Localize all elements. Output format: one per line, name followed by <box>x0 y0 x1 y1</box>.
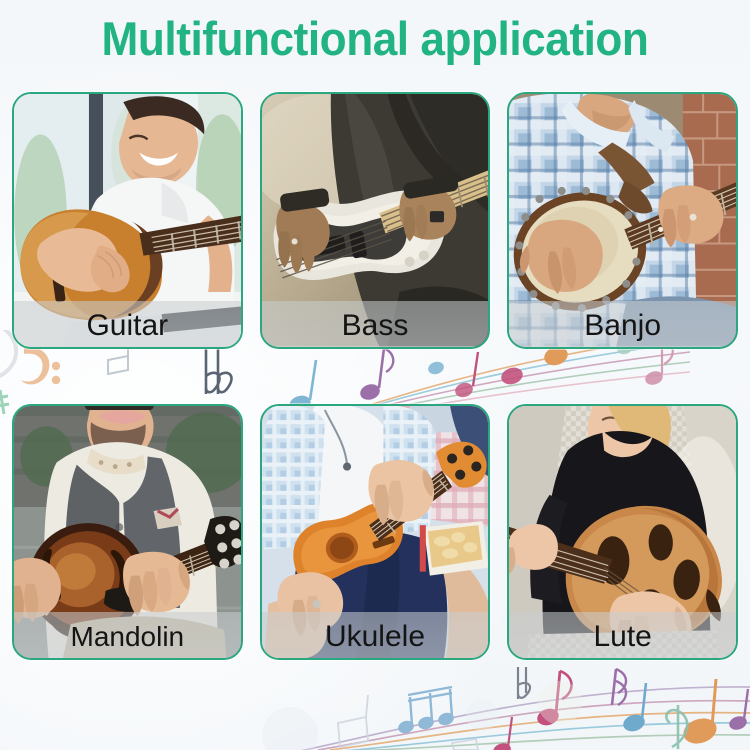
instrument-card-banjo[interactable]: Banjo <box>507 92 738 349</box>
instrument-card-ukulele[interactable]: Ukulele <box>260 404 491 661</box>
card-label-mandolin: Mandolin <box>14 618 241 656</box>
instrument-card-lute[interactable]: Lute <box>507 404 738 661</box>
instrument-card-grid: Guitar <box>12 92 738 660</box>
instrument-card-guitar[interactable]: Guitar <box>12 92 243 349</box>
card-label-bass: Bass <box>262 307 489 345</box>
card-label-lute: Lute <box>509 618 736 656</box>
card-label-banjo: Banjo <box>509 307 736 345</box>
decoration-music-band-bottom <box>0 655 750 750</box>
card-label-ukulele: Ukulele <box>262 618 489 656</box>
instrument-card-bass[interactable]: Bass <box>260 92 491 349</box>
promo-banner: Multifunctional application <box>0 0 750 750</box>
card-label-guitar: Guitar <box>14 307 241 345</box>
page-title: Multifunctional application <box>23 14 728 64</box>
instrument-card-mandolin[interactable]: Mandolin <box>12 404 243 661</box>
